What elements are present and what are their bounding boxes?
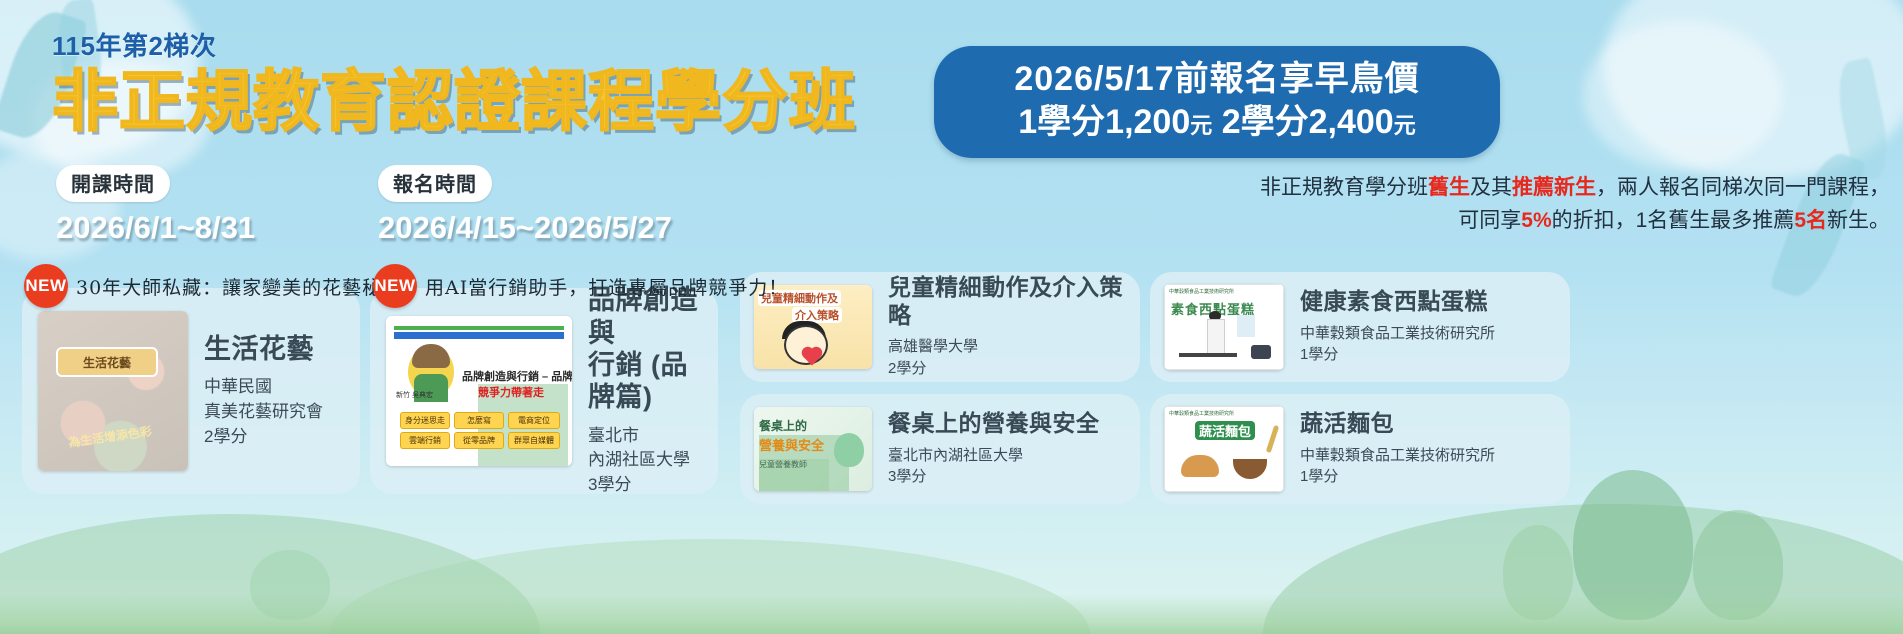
bowl-shape xyxy=(1233,459,1267,479)
loaf-shape xyxy=(1181,455,1219,477)
course-info: 兒童精細動作及介入策略 高雄醫學大學 2學分 xyxy=(872,274,1126,380)
course-credits: 2學分 xyxy=(204,425,323,450)
hair-shape xyxy=(412,344,450,368)
new-ribbon-text: 30年大師私藏：讓家變美的花藝秘訣 xyxy=(76,273,402,300)
slide-blue-bar xyxy=(394,332,564,339)
grass-decoration xyxy=(0,594,1903,634)
promo-banner: 115年第2梯次 非正規教育認證課程學分班 開課時間 2026/6/1~8/31… xyxy=(0,0,1903,634)
discount-highlight-referral: 推薦新生 xyxy=(1512,176,1596,199)
discount-highlight-returning: 舊生 xyxy=(1428,176,1470,199)
page-title: 非正規教育認證課程學分班 xyxy=(52,67,856,136)
course-title: 健康素食西點蛋糕 xyxy=(1300,288,1495,316)
course-period-value: 2026/6/1~8/31 xyxy=(56,210,324,246)
signup-period: 報名時間 2026/4/15~2026/5/27 xyxy=(378,165,672,246)
signup-period-value: 2026/4/15~2026/5/27 xyxy=(378,210,672,246)
course-title: 兒童精細動作及介入策略 xyxy=(888,274,1126,329)
thumb-chip: 身分迷思走 xyxy=(400,412,450,429)
new-ribbon-flower: NEW 30年大師私藏：讓家變美的花藝秘訣 xyxy=(24,264,402,308)
course-period: 開課時間 2026/6/1~8/31 xyxy=(56,165,324,246)
chef-body-shape xyxy=(1207,319,1225,355)
course-title: 餐桌上的營養與安全 xyxy=(888,410,1100,438)
course-credits: 3學分 xyxy=(888,466,1100,488)
course-org: 中華穀類食品工業技術研究所 xyxy=(1300,323,1495,345)
page-kicker: 115年第2梯次 xyxy=(52,26,856,63)
dates-block: 開課時間 2026/6/1~8/31 報名時間 2026/4/15~2026/5… xyxy=(56,165,672,246)
course-thumbnail: 生活花藝 為生活增添色彩 xyxy=(38,311,188,471)
desk-shape xyxy=(1179,353,1237,357)
course-credits: 3學分 xyxy=(588,473,702,498)
course-title: 生活花藝 xyxy=(204,333,323,365)
course-thumbnail: 中華穀類食品工業技術研究所 蔬活麵包 xyxy=(1164,406,1284,492)
thumb-label: 生活花藝 xyxy=(56,347,158,377)
course-org: 中華穀類食品工業技術研究所 xyxy=(1300,445,1495,467)
course-card-veggie-bread[interactable]: 中華穀類食品工業技術研究所 蔬活麵包 蔬活麵包 中華穀類食品工業技術研究所 1學… xyxy=(1150,394,1570,504)
camera-icon xyxy=(1251,345,1271,359)
discount-note: 非正規教育學分班舊生及其推薦新生，兩人報名同梯次同一門課程， 可同享5%的折扣，… xyxy=(880,172,1903,237)
course-credits: 1學分 xyxy=(1300,344,1495,366)
discount-text: 新生。 xyxy=(1827,209,1890,232)
course-card-table-nutrition[interactable]: 餐桌上的 營養與安全 兒童營養教師 餐桌上的營養與安全 臺北市內湖社區大學 3學… xyxy=(740,394,1140,504)
thumb-subtitle: 為生活增添色彩 xyxy=(49,420,170,454)
thumb-chip: 從零品牌 xyxy=(454,432,504,449)
headline-block: 115年第2梯次 非正規教育認證課程學分班 xyxy=(52,26,856,136)
course-thumbnail: 中華穀類食品工業技術研究所 素食西點蛋糕 xyxy=(1164,284,1284,370)
new-ribbon-brand: NEW 用AI當行銷助手，打造專屬品牌競爭力！ xyxy=(373,264,788,308)
vegetable-shape xyxy=(834,433,864,467)
brand-slide-image: 新竹 吳典宏 品牌創造與行銷 – 品牌篇 競爭力帶著走 身分迷思走 怎麼寫 電商… xyxy=(386,316,572,466)
course-org-line: 真美花藝研究會 xyxy=(204,400,323,425)
thumb-label-line3: 兒童營養教師 xyxy=(759,459,829,491)
bread-illustration: 中華穀類食品工業技術研究所 蔬活麵包 xyxy=(1164,406,1284,492)
thumb-header: 中華穀類食品工業技術研究所 xyxy=(1169,410,1234,417)
price-unit-2: 元 xyxy=(1394,113,1416,138)
discount-text: 的折扣，1名舊生最多推薦 xyxy=(1552,209,1795,232)
course-card-vegan-cake[interactable]: 中華穀類食品工業技術研究所 素食西點蛋糕 健康素食西點蛋糕 中華穀類食品工業技術… xyxy=(1150,272,1570,382)
price-1-credit: 1學分1,200 xyxy=(1018,103,1190,141)
course-period-label: 開課時間 xyxy=(56,165,170,202)
early-bird-badge: 2026/5/17前報名享早鳥價 1學分1,200元 2學分2,400元 xyxy=(934,46,1500,158)
course-info: 健康素食西點蛋糕 中華穀類食品工業技術研究所 1學分 xyxy=(1284,288,1495,366)
thumb-small-text: 新竹 吳典宏 xyxy=(396,390,433,400)
thumb-label: 蔬活麵包 xyxy=(1195,421,1255,440)
thumb-chip: 雲端行銷 xyxy=(400,432,450,449)
course-thumbnail: 新竹 吳典宏 品牌創造與行銷 – 品牌篇 競爭力帶著走 身分迷思走 怎麼寫 電商… xyxy=(386,316,572,466)
course-info: 餐桌上的營養與安全 臺北市內湖社區大學 3學分 xyxy=(872,410,1100,488)
price-unit-1: 元 xyxy=(1190,113,1212,138)
early-bird-deadline: 2026/5/17前報名享早鳥價 xyxy=(952,58,1482,101)
discount-highlight-count: 5名 xyxy=(1794,209,1827,232)
course-card-brand-marketing[interactable]: 新竹 吳典宏 品牌創造與行銷 – 品牌篇 競爭力帶著走 身分迷思走 怎麼寫 電商… xyxy=(370,288,718,494)
course-credits: 1學分 xyxy=(1300,466,1495,488)
early-bird-pricing: 1學分1,200元 2學分2,400元 xyxy=(952,101,1482,144)
course-org: 中華民國 真美花藝研究會 xyxy=(204,375,323,424)
course-info: 蔬活麵包 中華穀類食品工業技術研究所 1學分 xyxy=(1284,410,1495,488)
discount-text: 非正規教育學分班 xyxy=(1260,176,1428,199)
discount-text: ，兩人報名同梯次同一門課程， xyxy=(1596,176,1890,199)
course-org-line: 中華民國 xyxy=(204,375,323,400)
wheat-shape xyxy=(1266,425,1279,453)
signup-period-label: 報名時間 xyxy=(378,165,492,202)
discount-highlight-percent: 5% xyxy=(1521,209,1551,232)
course-card-child-motor[interactable]: 兒童精細動作及 介入策略 兒童精細動作及介入策略 高雄醫學大學 2學分 xyxy=(740,272,1140,382)
course-credits: 2學分 xyxy=(888,358,1126,380)
discount-text: 可同享 xyxy=(1458,209,1521,232)
thumb-chip: 怎麼寫 xyxy=(454,412,504,429)
course-info: 品牌創造與 行銷 (品牌篇) 臺北市 內湖社區大學 3學分 xyxy=(572,284,702,497)
course-org: 高雄醫學大學 xyxy=(888,336,1126,358)
course-card-life-floral[interactable]: 生活花藝 為生活增添色彩 生活花藝 中華民國 真美花藝研究會 2學分 xyxy=(22,288,360,494)
discount-line-1: 非正規教育學分班舊生及其推薦新生，兩人報名同梯次同一門課程， xyxy=(880,172,1890,205)
floral-image: 生活花藝 為生活增添色彩 xyxy=(38,311,188,471)
thumb-header: 中華穀類食品工業技術研究所 xyxy=(1169,288,1234,295)
course-info: 生活花藝 中華民國 真美花藝研究會 2學分 xyxy=(188,333,323,449)
price-2-credit: 2學分2,400 xyxy=(1212,103,1393,141)
new-badge-icon: NEW xyxy=(24,264,68,308)
course-thumbnail: 餐桌上的 營養與安全 兒童營養教師 xyxy=(754,407,872,491)
thumb-chip: 電商定位 xyxy=(508,412,560,429)
discount-text: 及其 xyxy=(1470,176,1512,199)
panel-shape xyxy=(1237,315,1255,337)
course-org-line: 臺北市 xyxy=(588,424,702,449)
cake-illustration: 中華穀類食品工業技術研究所 素食西點蛋糕 xyxy=(1164,284,1284,370)
new-badge-icon: NEW xyxy=(373,264,417,308)
course-org: 臺北市 內湖社區大學 xyxy=(588,424,702,473)
nutrition-illustration: 餐桌上的 營養與安全 兒童營養教師 xyxy=(754,407,872,491)
discount-line-2: 可同享5%的折扣，1名舊生最多推薦5名新生。 xyxy=(880,205,1890,238)
new-ribbon-text: 用AI當行銷助手，打造專屬品牌競爭力！ xyxy=(425,273,788,300)
course-org-line: 內湖社區大學 xyxy=(588,448,702,473)
slide-green-bar xyxy=(394,326,564,330)
course-title: 蔬活麵包 xyxy=(1300,410,1495,438)
cloud-decoration xyxy=(1583,20,1783,170)
course-org: 臺北市內湖社區大學 xyxy=(888,445,1100,467)
course-title-line: 行銷 (品牌篇) xyxy=(588,349,702,414)
thumb-chip: 群眾自媒體 xyxy=(508,432,560,449)
